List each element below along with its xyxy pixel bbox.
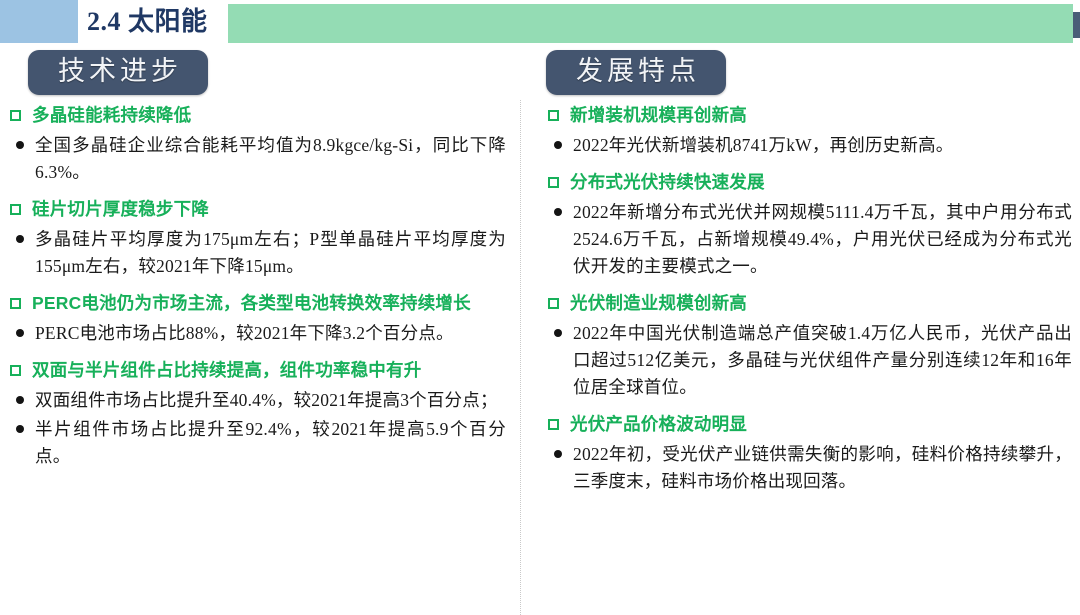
section-heading: 光伏制造业规模创新高 (570, 292, 747, 314)
right-column-chip-label: 发展特点 (546, 50, 726, 95)
bullet-text: 双面组件市场占比提升至40.4%，较2021年提高3个百分点； (35, 387, 498, 414)
round-bullet-icon (554, 450, 562, 458)
heading-row: 双面与半片组件占比持续提高，组件功率稳中有升 (8, 359, 506, 381)
bullet-row: 2022年初，受光伏产业链供需失衡的影响，硅料价格持续攀升，三季度末，硅料市场价… (546, 441, 1072, 495)
square-bullet-icon (10, 365, 21, 376)
bullet-text: 多晶硅片平均厚度为175μm左右；P型单晶硅片平均厚度为155μm左右，较202… (35, 226, 506, 280)
square-bullet-icon (548, 419, 559, 430)
section-heading: 光伏产品价格波动明显 (570, 413, 747, 435)
header-green-bar (228, 4, 1073, 43)
bullet-text: 全国多晶硅企业综合能耗平均值为8.9kgce/kg-Si，同比下降6.3%。 (35, 132, 506, 186)
bullet-row: 2022年中国光伏制造端总产值突破1.4万亿人民币，光伏产品出口超过512亿美元… (546, 320, 1072, 401)
bullet-row: 全国多晶硅企业综合能耗平均值为8.9kgce/kg-Si，同比下降6.3%。 (8, 132, 506, 186)
heading-row: PERC电池仍为市场主流，各类型电池转换效率持续增长 (8, 292, 506, 314)
bullet-text: 2022年中国光伏制造端总产值突破1.4万亿人民币，光伏产品出口超过512亿美元… (573, 320, 1072, 401)
square-bullet-icon (10, 204, 21, 215)
round-bullet-icon (16, 329, 24, 337)
round-bullet-icon (554, 208, 562, 216)
bullet-row: 多晶硅片平均厚度为175μm左右；P型单晶硅片平均厚度为155μm左右，较202… (8, 226, 506, 280)
content-columns: 技术进步 多晶硅能耗持续降低 全国多晶硅企业综合能耗平均值为8.9kgce/kg… (0, 46, 1080, 569)
section-heading: 新增装机规模再创新高 (570, 104, 747, 126)
heading-row: 分布式光伏持续快速发展 (546, 171, 1072, 193)
heading-row: 多晶硅能耗持续降低 (8, 104, 506, 126)
bullet-row: 2022年光伏新增装机8741万kW，再创历史新高。 (546, 132, 1072, 159)
heading-row: 光伏制造业规模创新高 (546, 292, 1072, 314)
left-column: 技术进步 多晶硅能耗持续降低 全国多晶硅企业综合能耗平均值为8.9kgce/kg… (0, 46, 520, 569)
bullet-text: PERC电池市场占比88%，较2021年下降3.2个百分点。 (35, 320, 454, 347)
bullet-row: 半片组件市场占比提升至92.4%，较2021年提高5.9个百分点。 (8, 416, 506, 470)
section-heading: 双面与半片组件占比持续提高，组件功率稳中有升 (32, 359, 421, 381)
bullet-row: PERC电池市场占比88%，较2021年下降3.2个百分点。 (8, 320, 506, 347)
round-bullet-icon (16, 141, 24, 149)
bullet-text: 2022年新增分布式光伏并网规模5111.4万千瓦，其中户用分布式2524.6万… (573, 199, 1072, 280)
round-bullet-icon (16, 235, 24, 243)
heading-row: 新增装机规模再创新高 (546, 104, 1072, 126)
page-title: 2.4 太阳能 (87, 6, 208, 38)
section-heading: 硅片切片厚度稳步下降 (32, 198, 209, 220)
section-heading: PERC电池仍为市场主流，各类型电池转换效率持续增长 (32, 292, 471, 314)
section-heading: 分布式光伏持续快速发展 (570, 171, 765, 193)
round-bullet-icon (16, 396, 24, 404)
round-bullet-icon (16, 425, 24, 433)
square-bullet-icon (548, 110, 559, 121)
square-bullet-icon (10, 110, 21, 121)
heading-row: 光伏产品价格波动明显 (546, 413, 1072, 435)
left-column-chip-label: 技术进步 (28, 50, 208, 95)
header-right-edge-tab (1073, 12, 1080, 38)
square-bullet-icon (548, 177, 559, 188)
bullet-text: 半片组件市场占比提升至92.4%，较2021年提高5.9个百分点。 (35, 416, 506, 470)
bullet-text: 2022年光伏新增装机8741万kW，再创历史新高。 (573, 132, 953, 159)
page-header: 2.4 太阳能 (0, 0, 1080, 46)
round-bullet-icon (554, 329, 562, 337)
column-divider (520, 100, 521, 615)
square-bullet-icon (548, 298, 559, 309)
section-heading: 多晶硅能耗持续降低 (32, 104, 191, 126)
bullet-text: 2022年初，受光伏产业链供需失衡的影响，硅料价格持续攀升，三季度末，硅料市场价… (573, 441, 1072, 495)
square-bullet-icon (10, 298, 21, 309)
right-column: 发展特点 新增装机规模再创新高 2022年光伏新增装机8741万kW，再创历史新… (532, 46, 1080, 569)
header-blue-accent-block (0, 0, 78, 43)
round-bullet-icon (554, 141, 562, 149)
heading-row: 硅片切片厚度稳步下降 (8, 198, 506, 220)
bullet-row: 双面组件市场占比提升至40.4%，较2021年提高3个百分点； (8, 387, 506, 414)
bullet-row: 2022年新增分布式光伏并网规模5111.4万千瓦，其中户用分布式2524.6万… (546, 199, 1072, 280)
